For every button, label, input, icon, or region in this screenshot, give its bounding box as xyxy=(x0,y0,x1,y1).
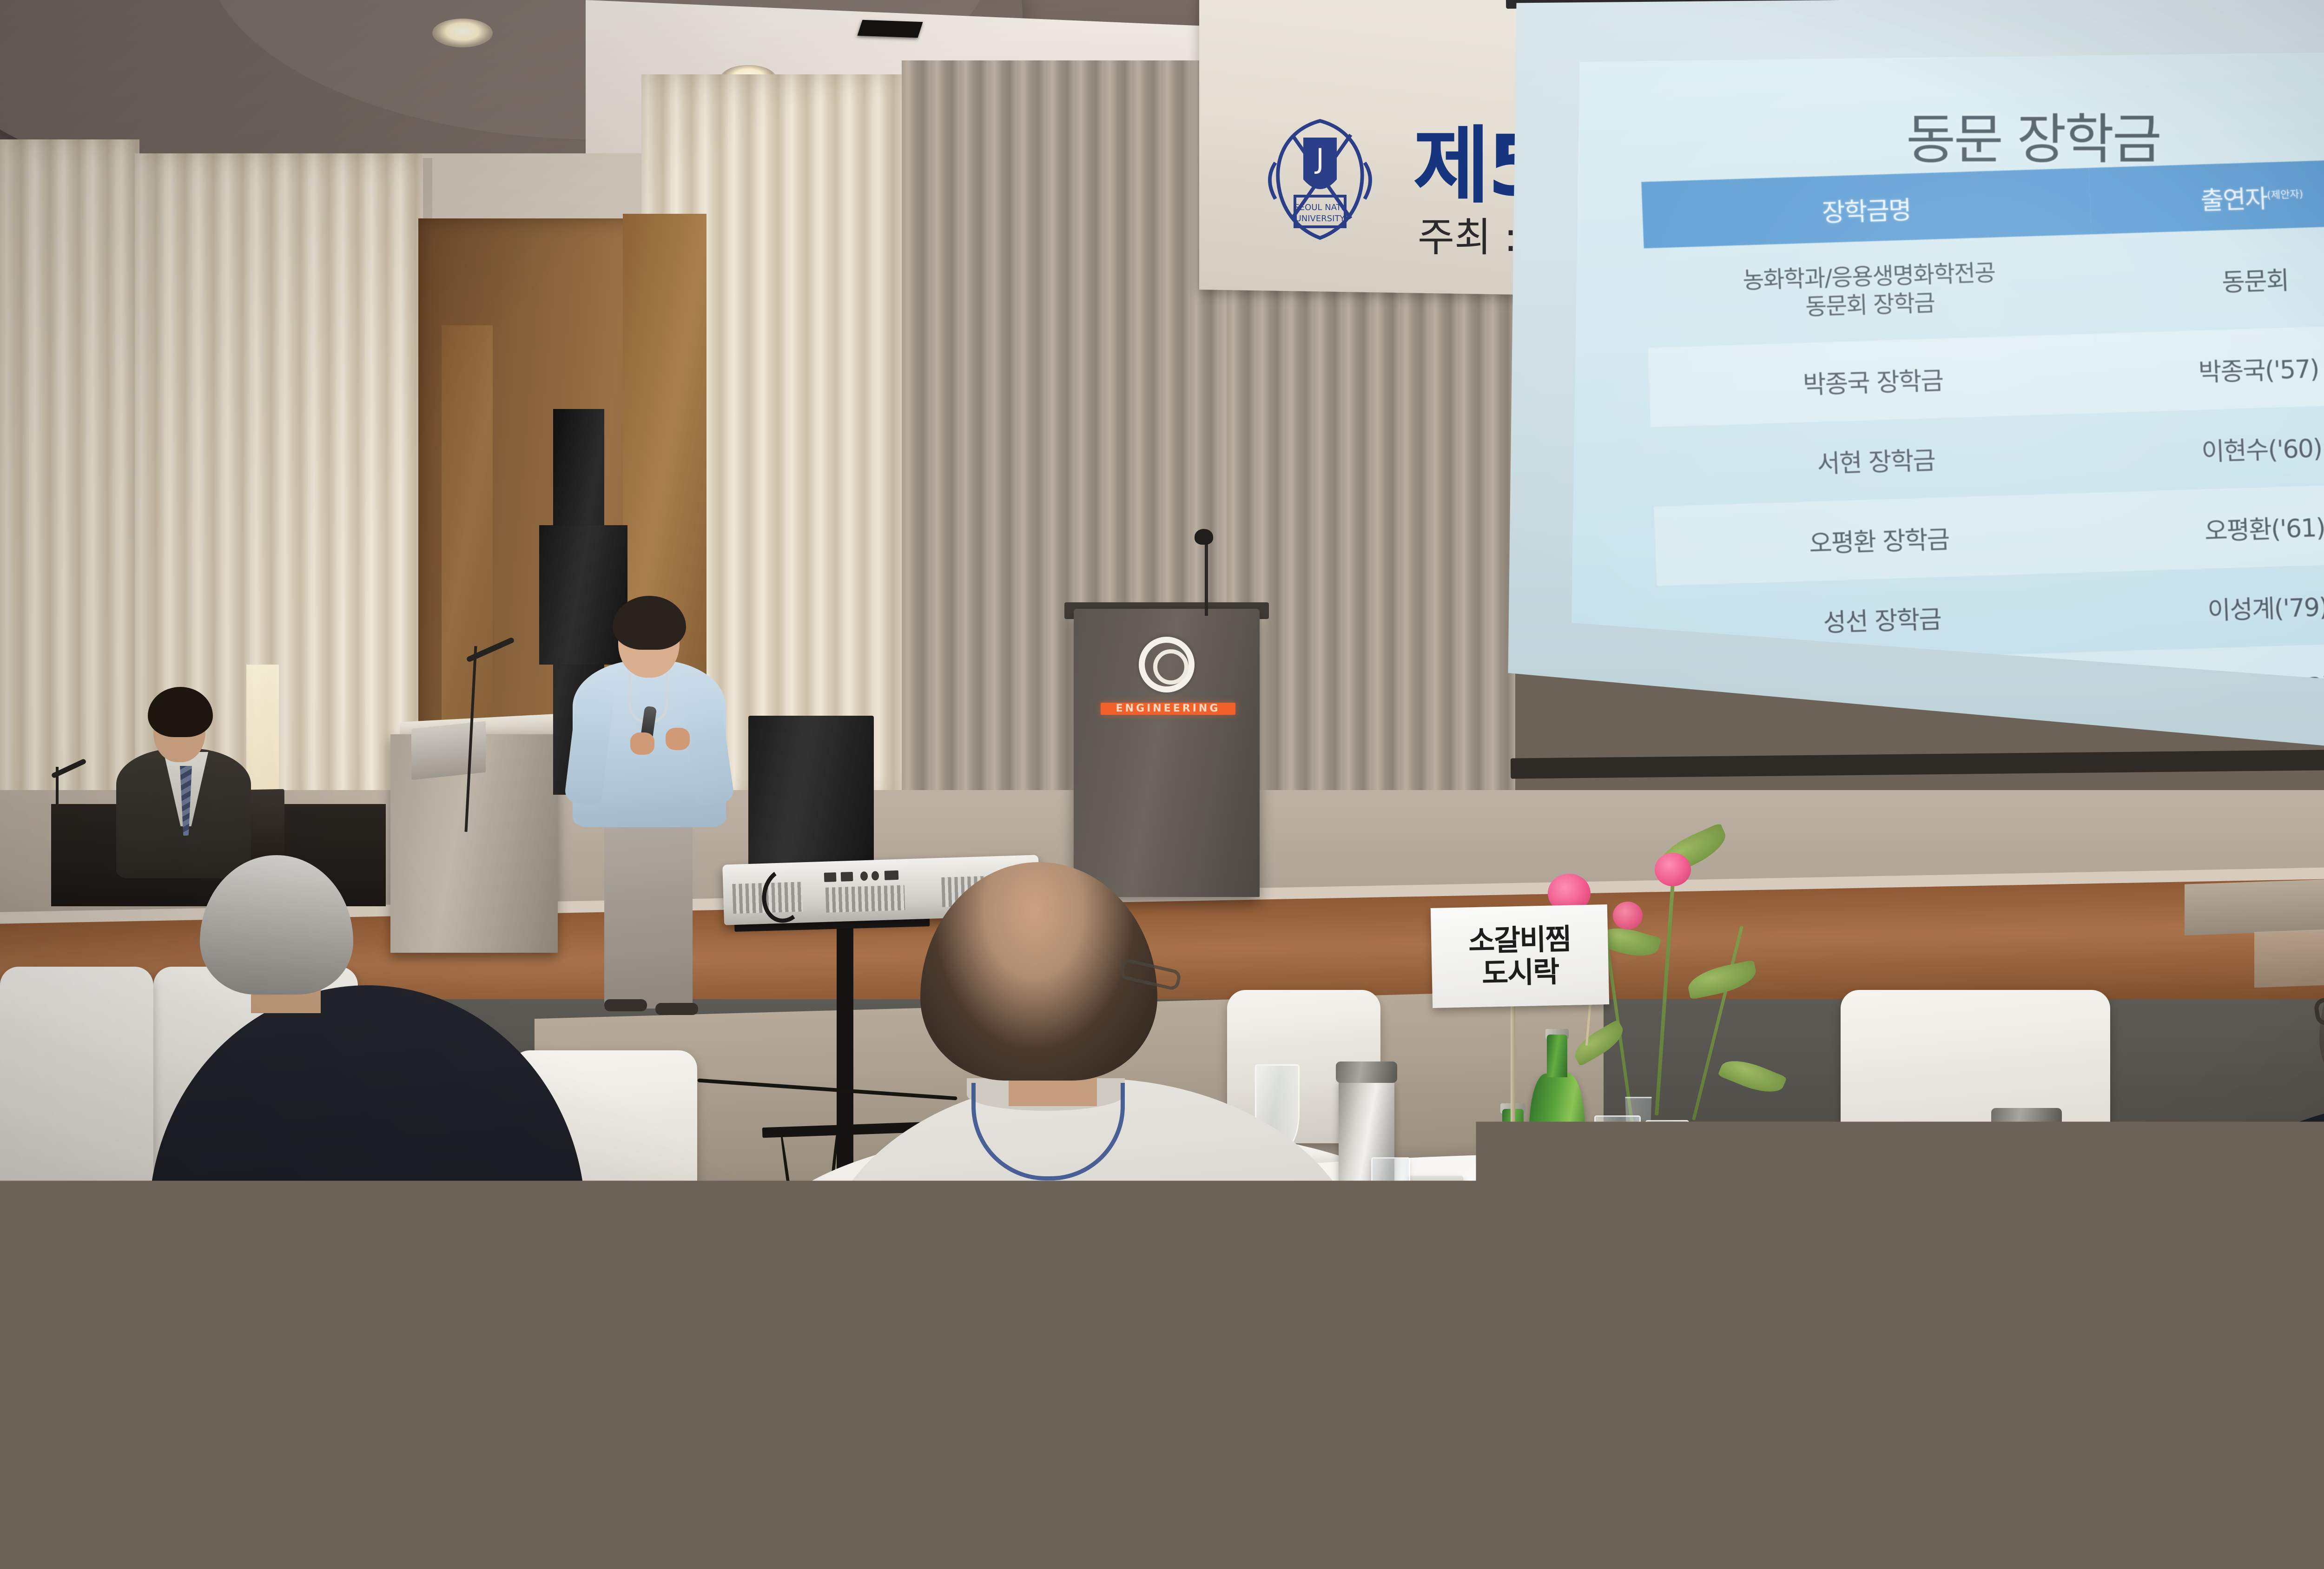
fruit-slice xyxy=(1911,1238,1957,1266)
paper-cup xyxy=(1808,1334,1867,1407)
water-glass xyxy=(2092,1153,2133,1241)
fruit-slice xyxy=(1926,1292,1974,1324)
speaker-cabinet xyxy=(539,525,627,665)
projector-stand xyxy=(837,920,853,1180)
paper-cup xyxy=(1394,1259,1450,1329)
tall-glass xyxy=(1594,1115,1641,1222)
can-brand-label: Coca-Cola xyxy=(1408,1220,1463,1252)
flower xyxy=(1655,853,1691,886)
podium-mic-stem xyxy=(1205,537,1208,616)
can-sub-label: 스프라이트 xyxy=(1459,1262,1512,1272)
flower xyxy=(1613,902,1643,930)
podium-microphone-icon xyxy=(1195,529,1213,545)
napkin xyxy=(1728,1157,1861,1217)
curtain-far-left xyxy=(0,139,139,846)
can-top xyxy=(1459,1185,1512,1201)
thermos-cap xyxy=(1336,1061,1397,1083)
audience-left-jacket xyxy=(149,985,586,1569)
cell-donor: 박종국('57) xyxy=(2095,323,2324,413)
floor-speaker xyxy=(748,716,874,874)
svg-text:SEOUL NATL: SEOUL NATL xyxy=(1294,203,1346,212)
sign-line-2: 도시락 xyxy=(1481,956,1558,989)
cell-scholarship-name: 농화학과/응용생명화학전공동문회 장학금 xyxy=(1644,234,2095,348)
presenter-shoe xyxy=(604,999,647,1011)
projector-port xyxy=(824,872,837,882)
tall-glass xyxy=(1692,1227,1735,1318)
cell-donor: 오평환('61) xyxy=(2101,482,2324,572)
cell-donor: 이현수('60) xyxy=(2098,403,2324,493)
sign-stick xyxy=(1511,995,1515,1129)
banner-host-label: 주최 : xyxy=(1418,204,1518,263)
presenter-hand xyxy=(666,728,690,750)
column-header-donor: 출연자(제안자) xyxy=(2089,158,2324,234)
thermos-carafe-right xyxy=(1994,1125,2059,1352)
cell-donor: 이성계('79) xyxy=(2104,562,2324,652)
presenter-trousers xyxy=(604,809,693,1009)
projector-port xyxy=(860,871,868,881)
fruit-slice xyxy=(1489,1316,1539,1348)
projector-port xyxy=(885,870,899,880)
tall-glass xyxy=(1645,1120,1689,1220)
cell-scholarship-name: 박종국 장학금 xyxy=(1648,334,2098,427)
svg-text:UNIVERSITY: UNIVERSITY xyxy=(1295,214,1346,224)
fruit-cup xyxy=(1483,1283,1546,1352)
slide-title: 동문 장학금 xyxy=(1571,95,2324,174)
presenter-shoe xyxy=(655,1003,698,1015)
cell-donor: 동문회 xyxy=(2091,224,2324,334)
university-crest-icon: J SEOUL NATL UNIVERSITY xyxy=(1250,107,1390,246)
water-glass xyxy=(1371,1157,1410,1236)
podium-engineering-label: ENGINEERING xyxy=(1101,703,1235,715)
projector-port xyxy=(841,872,853,882)
fruit-cup xyxy=(1920,1259,1980,1328)
svg-text:J: J xyxy=(1314,143,1324,175)
conference-hall-photo: J SEOUL NATL UNIVERSITY 제5 주최 : 문화 5월 2 … xyxy=(0,0,2324,1569)
podium-crest-icon xyxy=(1139,637,1195,692)
can-brand-label: Sprite xyxy=(1459,1228,1512,1245)
sign-line-1: 소갈비찜 xyxy=(1468,924,1571,956)
header-superscript: (제안자) xyxy=(2267,189,2304,201)
thermos-cap xyxy=(1991,1108,2062,1129)
curtain-behind-podium xyxy=(1227,251,1515,832)
projector-vent xyxy=(825,885,905,912)
can-top xyxy=(1408,1176,1463,1192)
fruit-cup xyxy=(1906,1208,1963,1270)
presenter-hand xyxy=(630,732,654,755)
downlight xyxy=(432,19,493,47)
lectern-laptop xyxy=(411,721,486,780)
cell-scholarship-name: 오평환 장학금 xyxy=(1654,493,2104,586)
water-glass xyxy=(1789,1222,1830,1307)
ceiling-vent xyxy=(857,20,923,38)
presentation-slide: 동문 장학금 장학금명 출연자(제안자) 농화학과/ xyxy=(1571,50,2324,712)
cell-scholarship-name: 서현 장학금 xyxy=(1651,413,2101,507)
bottle-neck xyxy=(1547,1035,1567,1077)
projector-port xyxy=(871,871,879,880)
table-menu-sign: 소갈비찜 도시락 xyxy=(1431,904,1609,1008)
